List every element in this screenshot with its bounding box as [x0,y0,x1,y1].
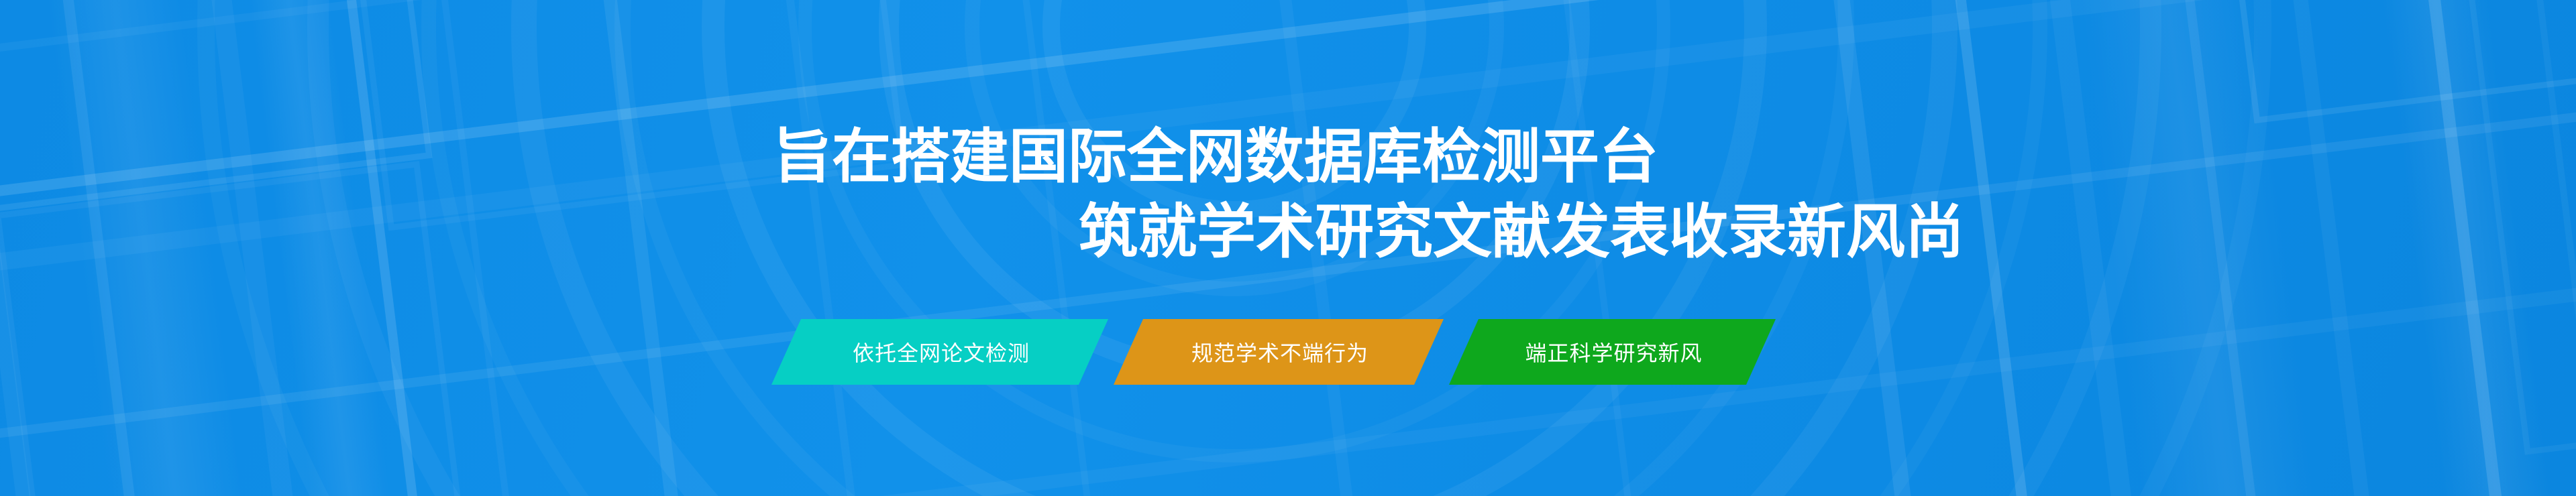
hero-banner: 旨在搭建国际全网数据库检测平台 筑就学术研究文献发表收录新风尚 依托全网论文检测… [0,0,2576,496]
feature-tag-0[interactable]: 依托全网论文检测 [771,319,1108,385]
feature-tag-2-label: 端正科学研究新风 [1525,336,1702,367]
feature-tag-1-label: 规范学术不端行为 [1191,336,1368,367]
headline-line-2: 筑就学术研究文献发表收录新风尚 [1079,194,2576,269]
feature-tag-1[interactable]: 规范学术不端行为 [1114,319,1444,385]
headline-block: 旨在搭建国际全网数据库检测平台 筑就学术研究文献发表收录新风尚 [0,119,2576,269]
feature-tag-2[interactable]: 端正科学研究新风 [1449,319,1776,385]
feature-tag-0-label: 依托全网论文检测 [853,336,1030,367]
headline-line-1: 旨在搭建国际全网数据库检测平台 [773,119,2576,194]
